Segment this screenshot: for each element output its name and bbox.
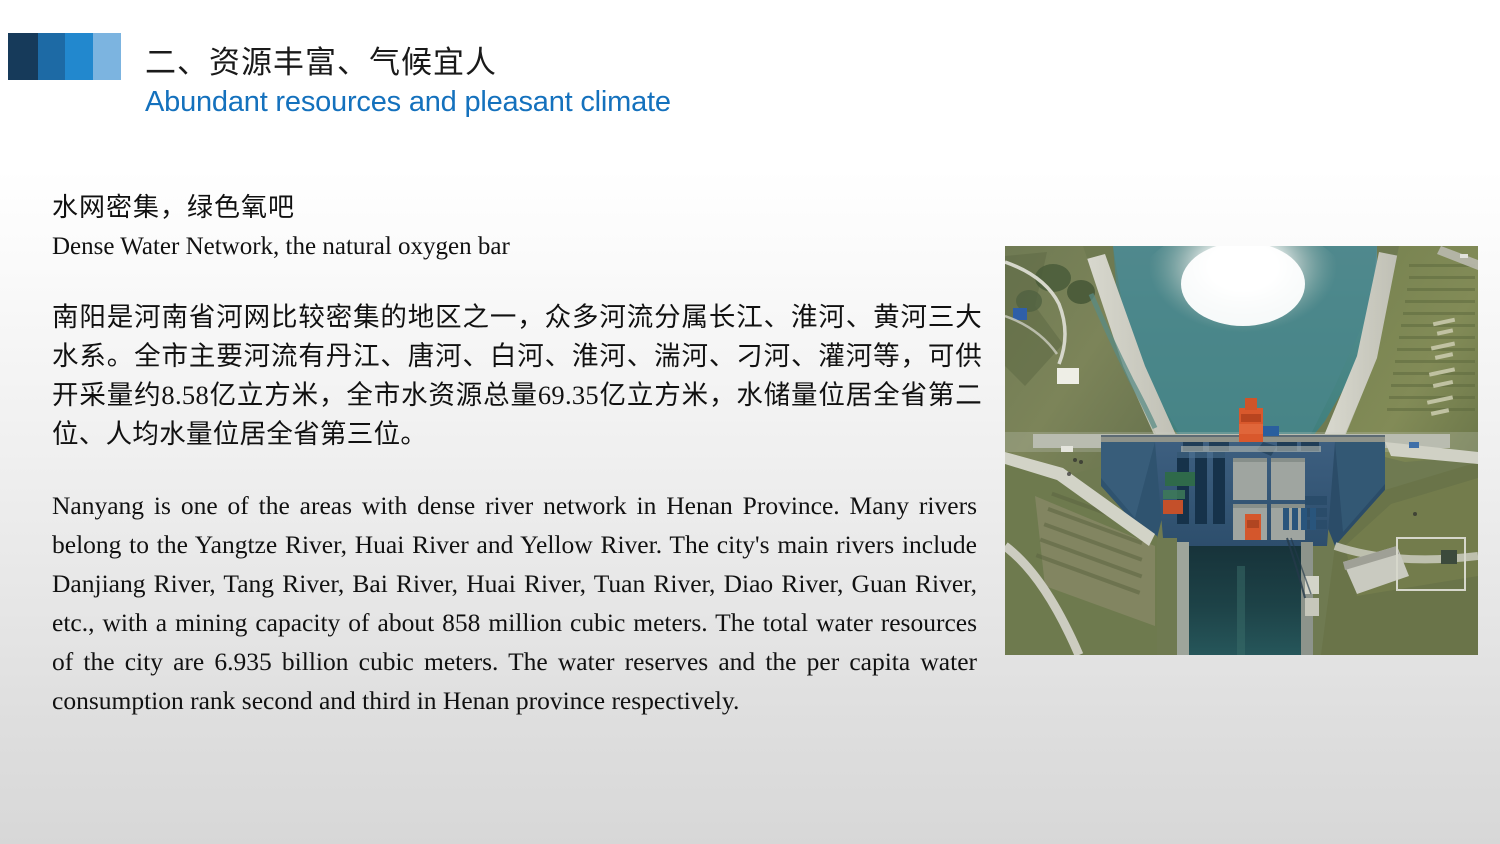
section-subhead-english: Dense Water Network, the natural oxygen … <box>52 230 982 264</box>
body-text-column: 水网密集，绿色氧吧 Dense Water Network, the natur… <box>52 190 982 720</box>
paragraph-english: Nanyang is one of the areas with dense r… <box>52 486 977 720</box>
section-subhead-chinese: 水网密集，绿色氧吧 <box>52 190 982 226</box>
accent-bar-4 <box>93 33 121 80</box>
slide-header: 二、资源丰富、气候宜人 Abundant resources and pleas… <box>0 0 1500 150</box>
slide-canvas: 二、资源丰富、气候宜人 Abundant resources and pleas… <box>0 0 1500 844</box>
accent-bar-3 <box>65 33 93 80</box>
aerial-dam-photo <box>1005 246 1478 655</box>
accent-bar-1 <box>8 33 38 80</box>
accent-bar-group <box>8 33 121 80</box>
title-block: 二、资源丰富、气候宜人 Abundant resources and pleas… <box>145 44 671 120</box>
page-title-chinese: 二、资源丰富、气候宜人 <box>145 44 671 82</box>
paragraph-chinese: 南阳是河南省河网比较密集的地区之一，众多河流分属长江、淮河、黄河三大水系。全市主… <box>52 298 982 454</box>
accent-bar-2 <box>38 33 65 80</box>
page-title-english: Abundant resources and pleasant climate <box>145 84 671 120</box>
